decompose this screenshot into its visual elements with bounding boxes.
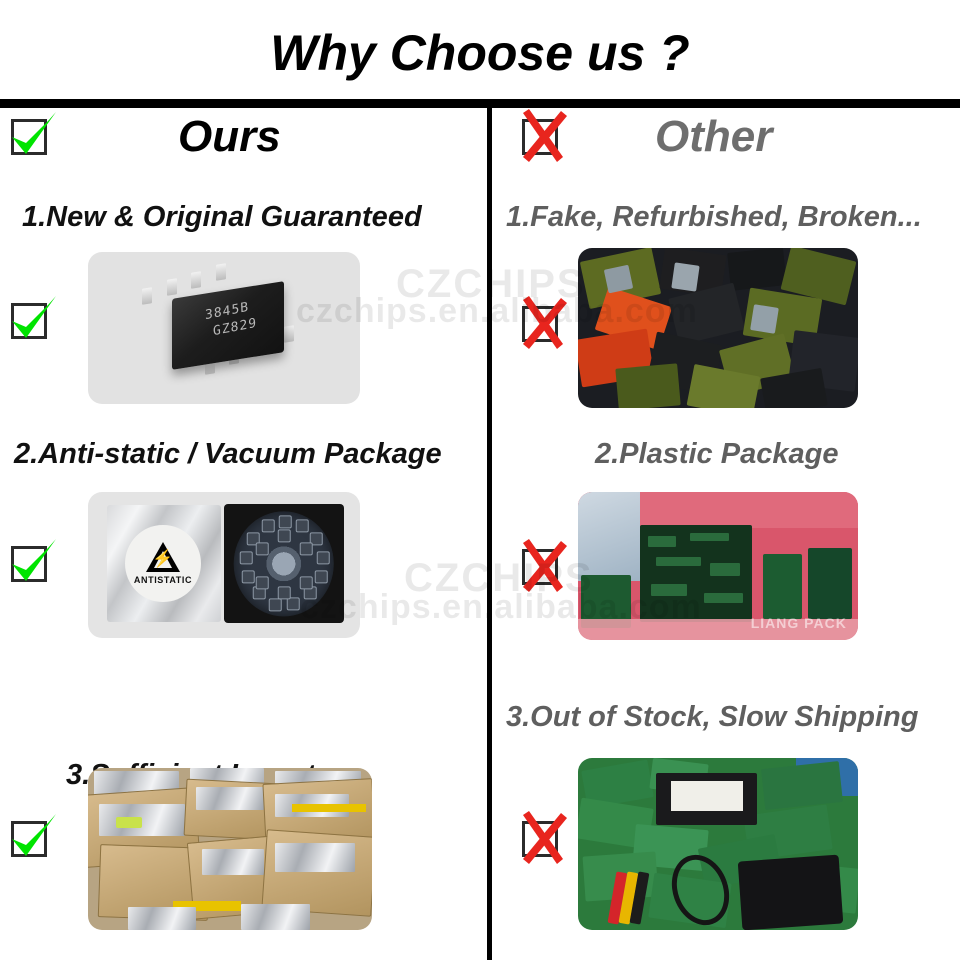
chip-pin: [167, 279, 177, 297]
feature-label-right-2: 2.Plastic Package: [595, 437, 838, 471]
reel-case: [224, 504, 344, 624]
chip-photo-inner: 3845B GZ829: [88, 252, 360, 404]
module-label: [671, 781, 744, 811]
header-divider: [0, 99, 960, 108]
chip-pin: [142, 288, 152, 306]
cross-glyph: [515, 809, 571, 867]
column-heading-ours: Ours: [178, 112, 281, 162]
feature-label-left-2: 2.Anti-static / Vacuum Package: [14, 437, 442, 471]
check-glyph: [4, 291, 60, 349]
check-glyph: [4, 809, 60, 867]
inventory-boxes-photo: [88, 768, 372, 930]
antistatic-caption: ANTISTATIC: [134, 575, 192, 585]
feature-label-right-1: 1.Fake, Refurbished, Broken...: [506, 200, 922, 234]
scrap-boards-photo: [578, 758, 858, 930]
cross-icon-row-3: [519, 815, 565, 861]
cross-glyph: [515, 294, 571, 352]
page-title: Why Choose us ?: [0, 24, 960, 82]
component-reel: [234, 511, 335, 616]
cross-icon-header: [519, 113, 565, 159]
check-glyph: [4, 534, 60, 592]
chip-pin: [191, 271, 201, 289]
lightning-bolt-icon: ⚡: [152, 550, 173, 567]
check-icon-row-3: [8, 815, 54, 861]
black-module: [656, 773, 757, 825]
antistatic-label: ⚡ ANTISTATIC: [125, 525, 200, 602]
chip-pin: [216, 263, 226, 281]
cross-glyph: [515, 107, 571, 165]
antistatic-bag-photo: ⚡ ANTISTATIC: [88, 492, 360, 638]
infographic-root: Why Choose us ? Ours Other 1.New & Origi…: [0, 0, 960, 960]
check-glyph: [4, 107, 60, 165]
broken-chips-photo: [578, 248, 858, 408]
check-icon-row-1: [8, 297, 54, 343]
broken-chips-inner: [578, 248, 858, 408]
pcb-small-mid: [763, 554, 802, 619]
feature-label-left-1: 1.New & Original Guaranteed: [22, 200, 422, 234]
plastic-package-watermark: LIANG PACK: [751, 615, 847, 631]
column-heading-other: Other: [655, 112, 772, 162]
check-icon-header: [8, 113, 54, 159]
feature-label-right-3: 3.Out of Stock, Slow Shipping: [506, 700, 918, 734]
chip-pin: [284, 326, 294, 344]
column-divider: [487, 108, 492, 960]
foil-bag: ⚡ ANTISTATIC: [107, 505, 221, 622]
check-icon-row-2: [8, 540, 54, 586]
inventory-inner: [88, 768, 372, 930]
antistatic-inner: ⚡ ANTISTATIC: [88, 492, 360, 638]
scrap-inner: [578, 758, 858, 930]
pcb-small-right: [808, 548, 853, 619]
plastic-package-photo: LIANG PACK: [578, 492, 858, 640]
cross-icon-row-2: [519, 543, 565, 589]
chip-photo: 3845B GZ829: [88, 252, 360, 404]
plastic-package-inner: LIANG PACK: [578, 492, 858, 640]
cross-icon-row-1: [519, 300, 565, 346]
cross-glyph: [515, 537, 571, 595]
